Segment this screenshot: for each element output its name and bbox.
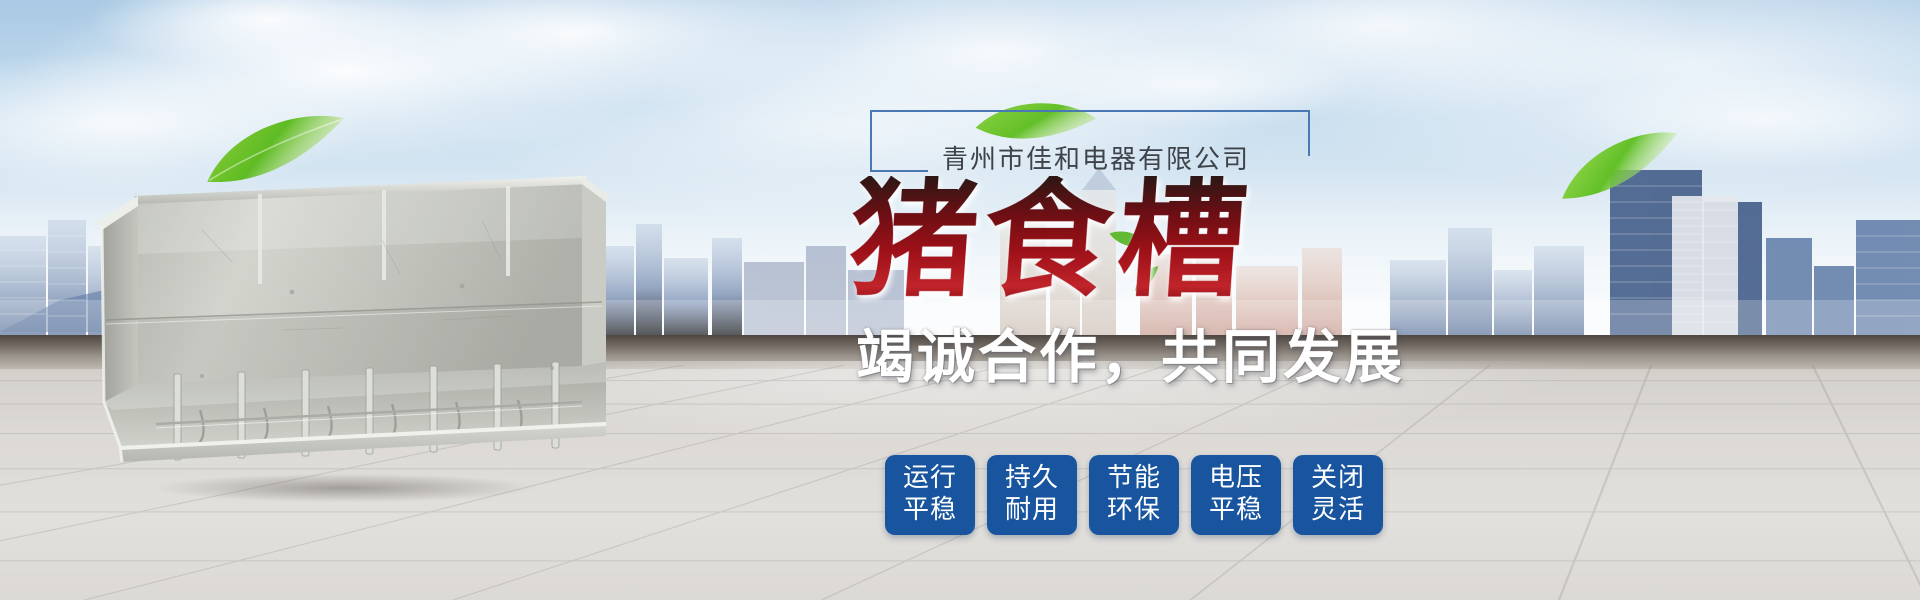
promo-banner: 青州市佳和电器有限公司 猪食槽 竭诚合作，共同发展 运行 平稳 持久 耐用 节能…: [0, 0, 1920, 600]
feature-badge-line1: 节能: [1107, 463, 1161, 495]
feature-badge-line2: 平稳: [1209, 495, 1263, 527]
feature-badge-line2: 环保: [1107, 495, 1161, 527]
page-title: 猪食槽: [846, 176, 1505, 304]
feature-badge[interactable]: 节能 环保: [1089, 455, 1179, 535]
feature-badge-line1: 持久: [1005, 463, 1059, 495]
feature-badge-line1: 关闭: [1311, 463, 1365, 495]
feature-badge-line1: 电压: [1209, 463, 1263, 495]
feature-badge-line2: 平稳: [903, 495, 957, 527]
feature-badge-list: 运行 平稳 持久 耐用 节能 环保 电压 平稳 关闭 灵活: [885, 455, 1383, 535]
frame-right-line: [1308, 110, 1310, 156]
feature-badge[interactable]: 运行 平稳: [885, 455, 975, 535]
leaf-icon: [1550, 125, 1690, 211]
subtitle: 竭诚合作，共同发展: [856, 310, 1500, 394]
feature-badge[interactable]: 电压 平稳: [1191, 455, 1281, 535]
feature-badge[interactable]: 关闭 灵活: [1293, 455, 1383, 535]
product-image-trough: [82, 170, 622, 490]
headline-block: 青州市佳和电器有限公司 猪食槽 竭诚合作，共同发展: [860, 110, 1500, 394]
feature-badge[interactable]: 持久 耐用: [987, 455, 1077, 535]
feature-badge-line2: 耐用: [1005, 495, 1059, 527]
frame-top-line: [870, 110, 1310, 112]
feature-badge-line1: 运行: [903, 463, 957, 495]
frame-left-line: [870, 110, 872, 172]
feature-badge-line2: 灵活: [1311, 495, 1365, 527]
company-name-frame: 青州市佳和电器有限公司: [870, 110, 1310, 172]
